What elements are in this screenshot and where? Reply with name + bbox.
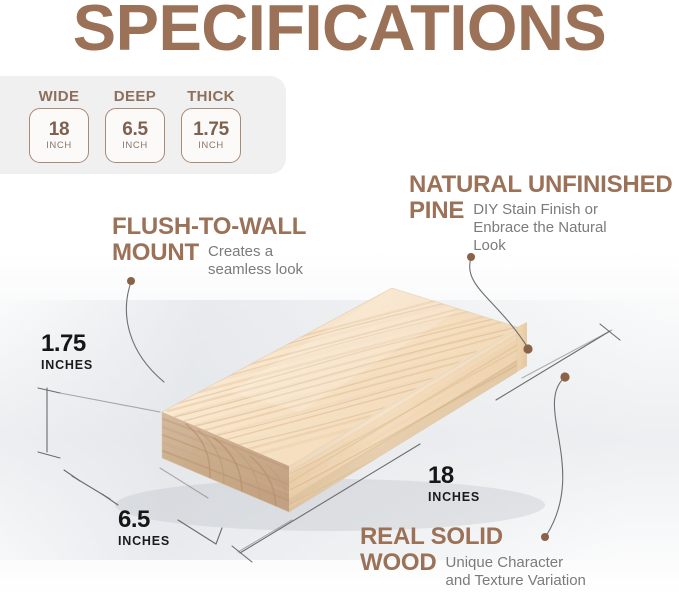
- callout-wood-heading-line1: REAL SOLID: [360, 524, 586, 550]
- spec-value-deep: 6.5: [122, 120, 148, 139]
- shelf-right-end-face: [517, 322, 527, 372]
- spec-item-wide: WIDE 18 INCH: [28, 88, 90, 163]
- leader-flush: [126, 282, 164, 382]
- callout-pine-heading-line1: NATURAL UNFINISHED: [409, 172, 673, 198]
- callout-pine-sub-line3: Look: [473, 237, 606, 255]
- leader-dots: [127, 253, 570, 541]
- spec-box-thick: 1.75 INCH: [181, 108, 241, 163]
- callout-real-solid-wood: REAL SOLID WOOD Unique Character and Tex…: [360, 524, 586, 590]
- spec-unit-thick: INCH: [198, 141, 224, 151]
- shelf-end-grain-face: [160, 412, 292, 534]
- spec-unit-deep: INCH: [122, 141, 148, 151]
- background-gradient-band: [0, 300, 679, 560]
- dimension-thickness-number: 1.75: [41, 332, 93, 356]
- spec-box-wide: 18 INCH: [29, 108, 89, 163]
- callout-flush-to-wall-mount: FLUSH-TO-WALL MOUNT Creates a seamless l…: [112, 214, 306, 279]
- dimension-thickness: [38, 388, 160, 458]
- dimension-depth-unit: INCHES: [118, 535, 170, 548]
- callout-flush-sub-line2: seamless look: [208, 261, 303, 279]
- spec-unit-wide: INCH: [46, 141, 72, 151]
- callout-pine-sub-line1: DIY Stain Finish or: [473, 201, 606, 219]
- spec-label-deep: DEEP: [104, 88, 166, 105]
- callout-flush-sub-line1: Creates a: [208, 243, 303, 261]
- dimension-label-depth: 6.5 INCHES: [118, 508, 170, 548]
- leader-dot-pine-board: [523, 344, 532, 353]
- dimension-width-number: 18: [428, 464, 480, 488]
- spec-value-thick: 1.75: [193, 120, 229, 139]
- callout-flush-heading-line1: FLUSH-TO-WALL: [112, 214, 306, 240]
- dimension-label-thickness: 1.75 INCHES: [41, 332, 93, 372]
- spec-item-list: WIDE 18 INCH DEEP 6.5 INCH THICK 1.75 IN…: [28, 88, 242, 163]
- callout-pine-heading-line2: PINE: [409, 198, 464, 224]
- dimension-thickness-unit: INCHES: [41, 359, 93, 372]
- shelf-top-face: [118, 288, 573, 466]
- spec-label-wide: WIDE: [28, 88, 90, 105]
- leader-pine: [470, 258, 528, 348]
- spec-value-wide: 18: [49, 120, 70, 139]
- spec-box-deep: 6.5 INCH: [105, 108, 165, 163]
- callout-flush-heading-line2: MOUNT: [112, 240, 199, 266]
- callout-wood-sub-line2: and Texture Variation: [446, 572, 586, 590]
- callout-pine-sub-line2: Enbrace the Natural: [473, 219, 606, 237]
- leader-dot-wood-board: [560, 372, 569, 381]
- shelf-front-face: [284, 326, 524, 512]
- callout-wood-heading-line2: WOOD: [360, 550, 437, 576]
- callout-pine-subtext: DIY Stain Finish or Enbrace the Natural …: [473, 198, 606, 255]
- callout-wood-sub-line1: Unique Character: [446, 554, 586, 572]
- leader-wood: [546, 378, 564, 536]
- page-title: SPECIFICATIONS: [0, 0, 679, 64]
- dimension-label-width: 18 INCHES: [428, 464, 480, 504]
- dimension-depth-number: 6.5: [118, 508, 170, 532]
- callout-natural-unfinished-pine: NATURAL UNFINISHED PINE DIY Stain Finish…: [409, 172, 673, 255]
- callout-flush-subtext: Creates a seamless look: [208, 240, 303, 279]
- specifications-infographic: SPECIFICATIONS WIDE 18 INCH DEEP 6.5 INC…: [0, 0, 679, 594]
- callout-wood-subtext: Unique Character and Texture Variation: [446, 550, 586, 590]
- spec-summary-card: WIDE 18 INCH DEEP 6.5 INCH THICK 1.75 IN…: [0, 76, 286, 174]
- spec-label-thick: THICK: [180, 88, 242, 105]
- spec-item-deep: DEEP 6.5 INCH: [104, 88, 166, 163]
- spec-item-thick: THICK 1.75 INCH: [180, 88, 242, 163]
- dimension-width-unit: INCHES: [428, 491, 480, 504]
